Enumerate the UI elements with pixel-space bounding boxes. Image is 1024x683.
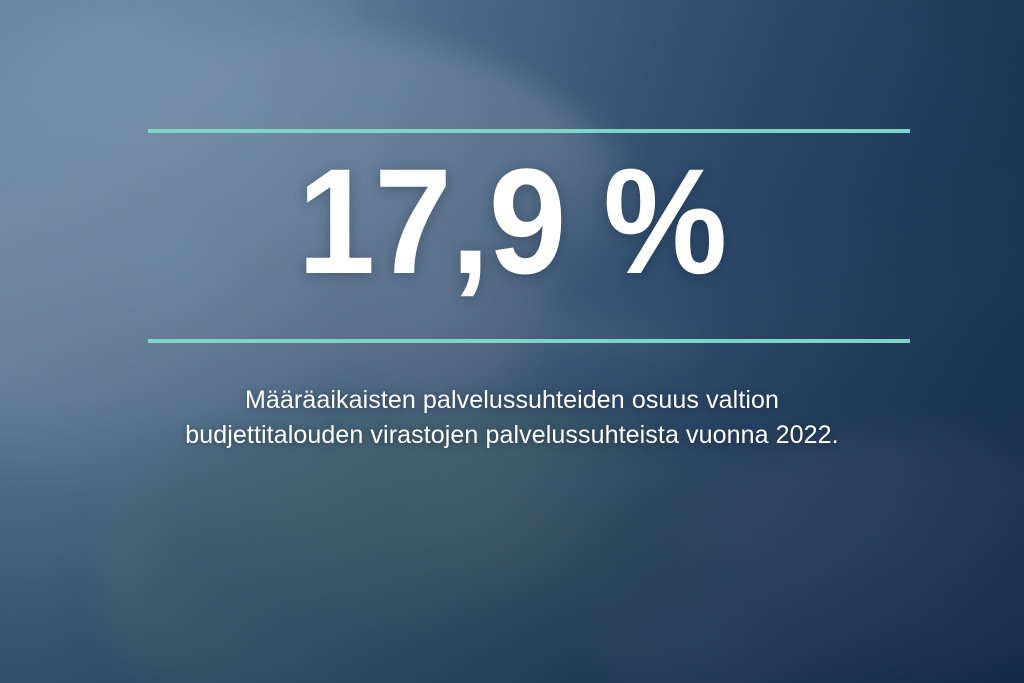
statistic-caption: Määräaikaisten palvelussuhteiden osuus v… [120, 383, 904, 452]
statistic-hero-card: 17,9 % Määräaikaisten palvelussuhteiden … [0, 0, 1024, 683]
statistic-value: 17,9 % [36, 146, 988, 296]
caption-line-1: Määräaikaisten palvelussuhteiden osuus v… [120, 383, 904, 418]
caption-line-2: budjettitalouden virastojen palvelussuht… [120, 418, 904, 453]
accent-rule-bottom [148, 339, 910, 343]
accent-rule-top [148, 129, 910, 133]
card-content: 17,9 % Määräaikaisten palvelussuhteiden … [0, 0, 1024, 683]
